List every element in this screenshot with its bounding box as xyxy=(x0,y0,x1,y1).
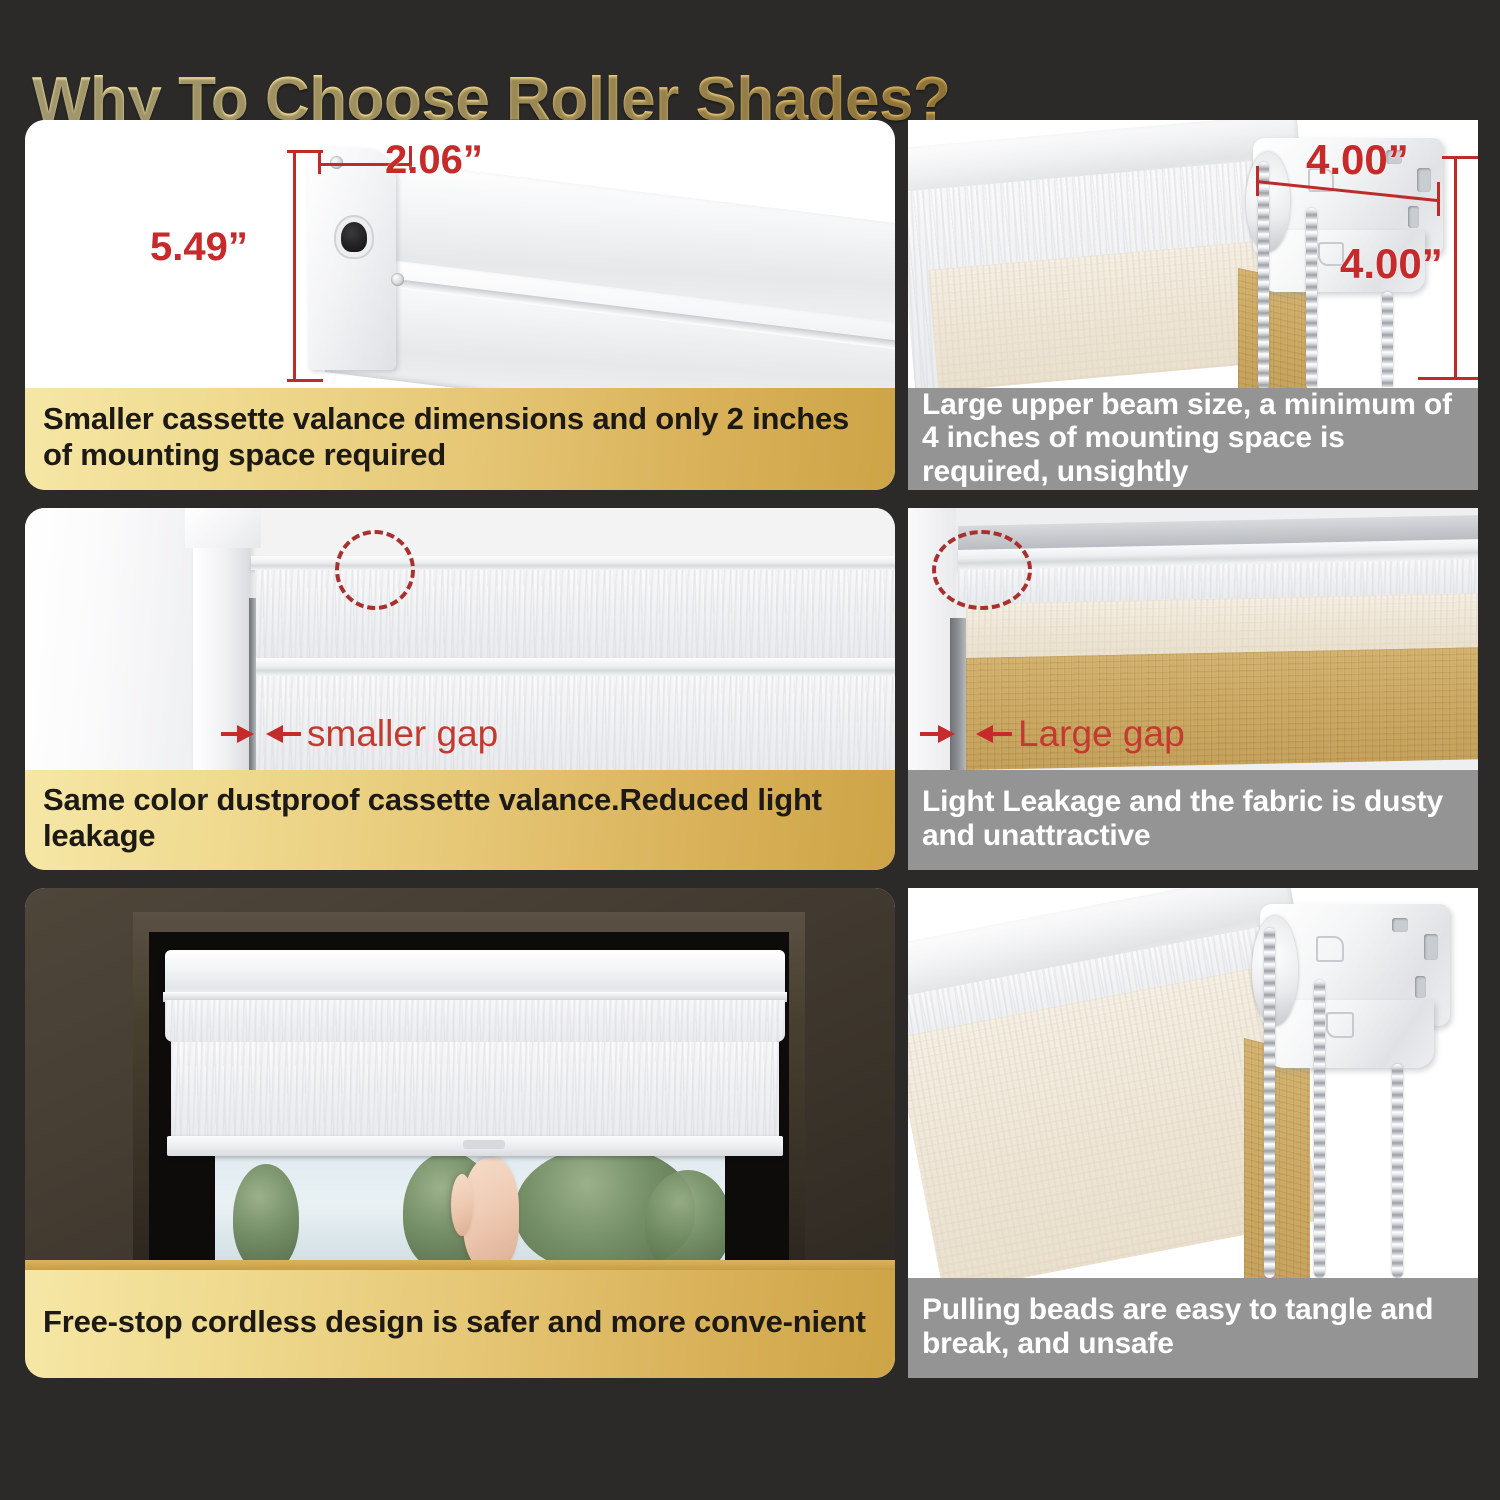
bracket-slot-mid-panel6 xyxy=(1415,976,1426,998)
bracket-arrow-icon-top-panel6 xyxy=(1316,936,1344,962)
floor-accent-strip xyxy=(25,1260,895,1270)
gap-arrow-left-head xyxy=(237,725,254,743)
bead-chain-left-panel6 xyxy=(1264,928,1275,1278)
room-shade-fabric xyxy=(171,1042,779,1138)
panel-6-photo xyxy=(908,888,1478,1278)
beam-height-dimension-line xyxy=(1454,156,1457,380)
gap-arrow-right-head xyxy=(266,725,283,743)
tan-fabric-panel6 xyxy=(1244,1038,1310,1278)
bead-chain-mid-panel6 xyxy=(1314,980,1325,1278)
top-gap-highlight-ellipse xyxy=(335,530,415,610)
panel-6-caption-text: Pulling beads are easy to tangle and bre… xyxy=(922,1293,1464,1360)
large-gap-strip xyxy=(950,618,966,770)
screw-mid-icon xyxy=(391,273,404,286)
height-dim-tick-bottom xyxy=(287,379,323,382)
hem-bar-handle xyxy=(463,1140,505,1149)
beam-height-tick-top xyxy=(1442,156,1478,159)
panel-1-caption: Smaller cassette valance dimensions and … xyxy=(25,388,895,490)
panel-3-caption-text: Same color dustproof cassette valance.Re… xyxy=(43,782,877,854)
bracket-arrow-icon-bottom-panel6 xyxy=(1326,1012,1354,1038)
gap-arrow-right-stem xyxy=(283,732,301,736)
panel-1-photo: 2.06” 5.49” xyxy=(25,120,895,388)
room-shade-fabric-roll xyxy=(165,1000,785,1042)
light-gap-strip xyxy=(249,598,256,770)
panel-1-caption-text: Smaller cassette valance dimensions and … xyxy=(43,401,877,473)
beam-width-tick-left xyxy=(1256,166,1259,196)
height-dimension-label: 5.49” xyxy=(150,225,248,270)
panel-4-photo: Large gap xyxy=(908,508,1478,770)
large-gap-arrow-right-stem xyxy=(992,732,1012,736)
large-gap-arrow-left-head xyxy=(938,725,955,743)
width-dimension-label: 2.06” xyxy=(385,138,483,183)
panel-5-caption: Free-stop cordless design is safer and m… xyxy=(25,1270,895,1378)
tree-left-icon xyxy=(233,1164,299,1270)
bead-chain-right xyxy=(1382,292,1393,388)
panel-3-caption: Same color dustproof cassette valance.Re… xyxy=(25,770,895,870)
tree-far-right-icon xyxy=(645,1170,725,1270)
panel-2-photo: 4.00” 4.00” xyxy=(908,120,1478,388)
large-gap-arrow-left-stem xyxy=(920,732,940,736)
panel-large-upper-beam: 4.00” 4.00” Large upper beam size, a min… xyxy=(908,120,1478,490)
panel-dustproof-valance: smaller gap Same color dustproof cassett… xyxy=(25,508,895,870)
panel-4-caption: Light Leakage and the fabric is dusty an… xyxy=(908,770,1478,870)
frame-bevel xyxy=(185,508,261,548)
bead-chain-right-panel6 xyxy=(1392,1064,1403,1278)
panel-3-photo: smaller gap xyxy=(25,508,895,770)
room-cassette-valance xyxy=(165,950,785,998)
cassette-end-cap xyxy=(308,148,396,370)
bracket-slot-right-panel6 xyxy=(1424,934,1438,960)
beam-width-tick-right xyxy=(1437,182,1440,216)
bead-chain-mid xyxy=(1306,208,1317,388)
large-gap-label: Large gap xyxy=(1018,713,1185,755)
leak-highlight-ellipse xyxy=(932,530,1032,610)
smaller-gap-label: smaller gap xyxy=(307,713,498,755)
bead-pulley-panel6 xyxy=(1252,916,1298,1026)
panel-4-caption-text: Light Leakage and the fabric is dusty an… xyxy=(922,785,1464,852)
beam-width-label: 4.00” xyxy=(1306,136,1409,184)
large-gap-arrow-right-head xyxy=(976,725,993,743)
panel-light-leakage: Large gap Light Leakage and the fabric i… xyxy=(908,508,1478,870)
panel-5-caption-text: Free-stop cordless design is safer and m… xyxy=(43,1304,866,1340)
infographic-page: Why To Choose Roller Shades? 2.06” xyxy=(0,0,1500,1500)
height-dimension-line xyxy=(293,150,296,382)
cassette-socket xyxy=(341,222,367,252)
bracket-slot-right xyxy=(1417,168,1431,192)
bracket-slot-top-panel6 xyxy=(1392,918,1408,932)
height-dim-tick-top xyxy=(287,150,323,153)
panel-6-caption: Pulling beads are easy to tangle and bre… xyxy=(908,1278,1478,1378)
hand-thumb xyxy=(451,1174,473,1236)
shade-mid-rail xyxy=(251,658,895,676)
panel-cordless-design: Free-stop cordless design is safer and m… xyxy=(25,888,895,1378)
window-frame-left xyxy=(25,508,200,770)
panel-2-caption: Large upper beam size, a minimum of 4 in… xyxy=(908,388,1478,490)
panel-smaller-cassette: 2.06” 5.49” Smaller cassette valance dim… xyxy=(25,120,895,490)
panel-5-photo xyxy=(25,888,895,1270)
bracket-slot-mid xyxy=(1408,206,1419,228)
panel-pulling-beads: Pulling beads are easy to tangle and bre… xyxy=(908,888,1478,1378)
beam-height-label: 4.00” xyxy=(1340,240,1443,288)
panel-2-caption-text: Large upper beam size, a minimum of 4 in… xyxy=(922,388,1464,489)
width-dim-tick-left xyxy=(318,152,321,174)
beam-height-tick-bottom xyxy=(1418,377,1478,380)
bead-chain-left xyxy=(1258,162,1269,388)
